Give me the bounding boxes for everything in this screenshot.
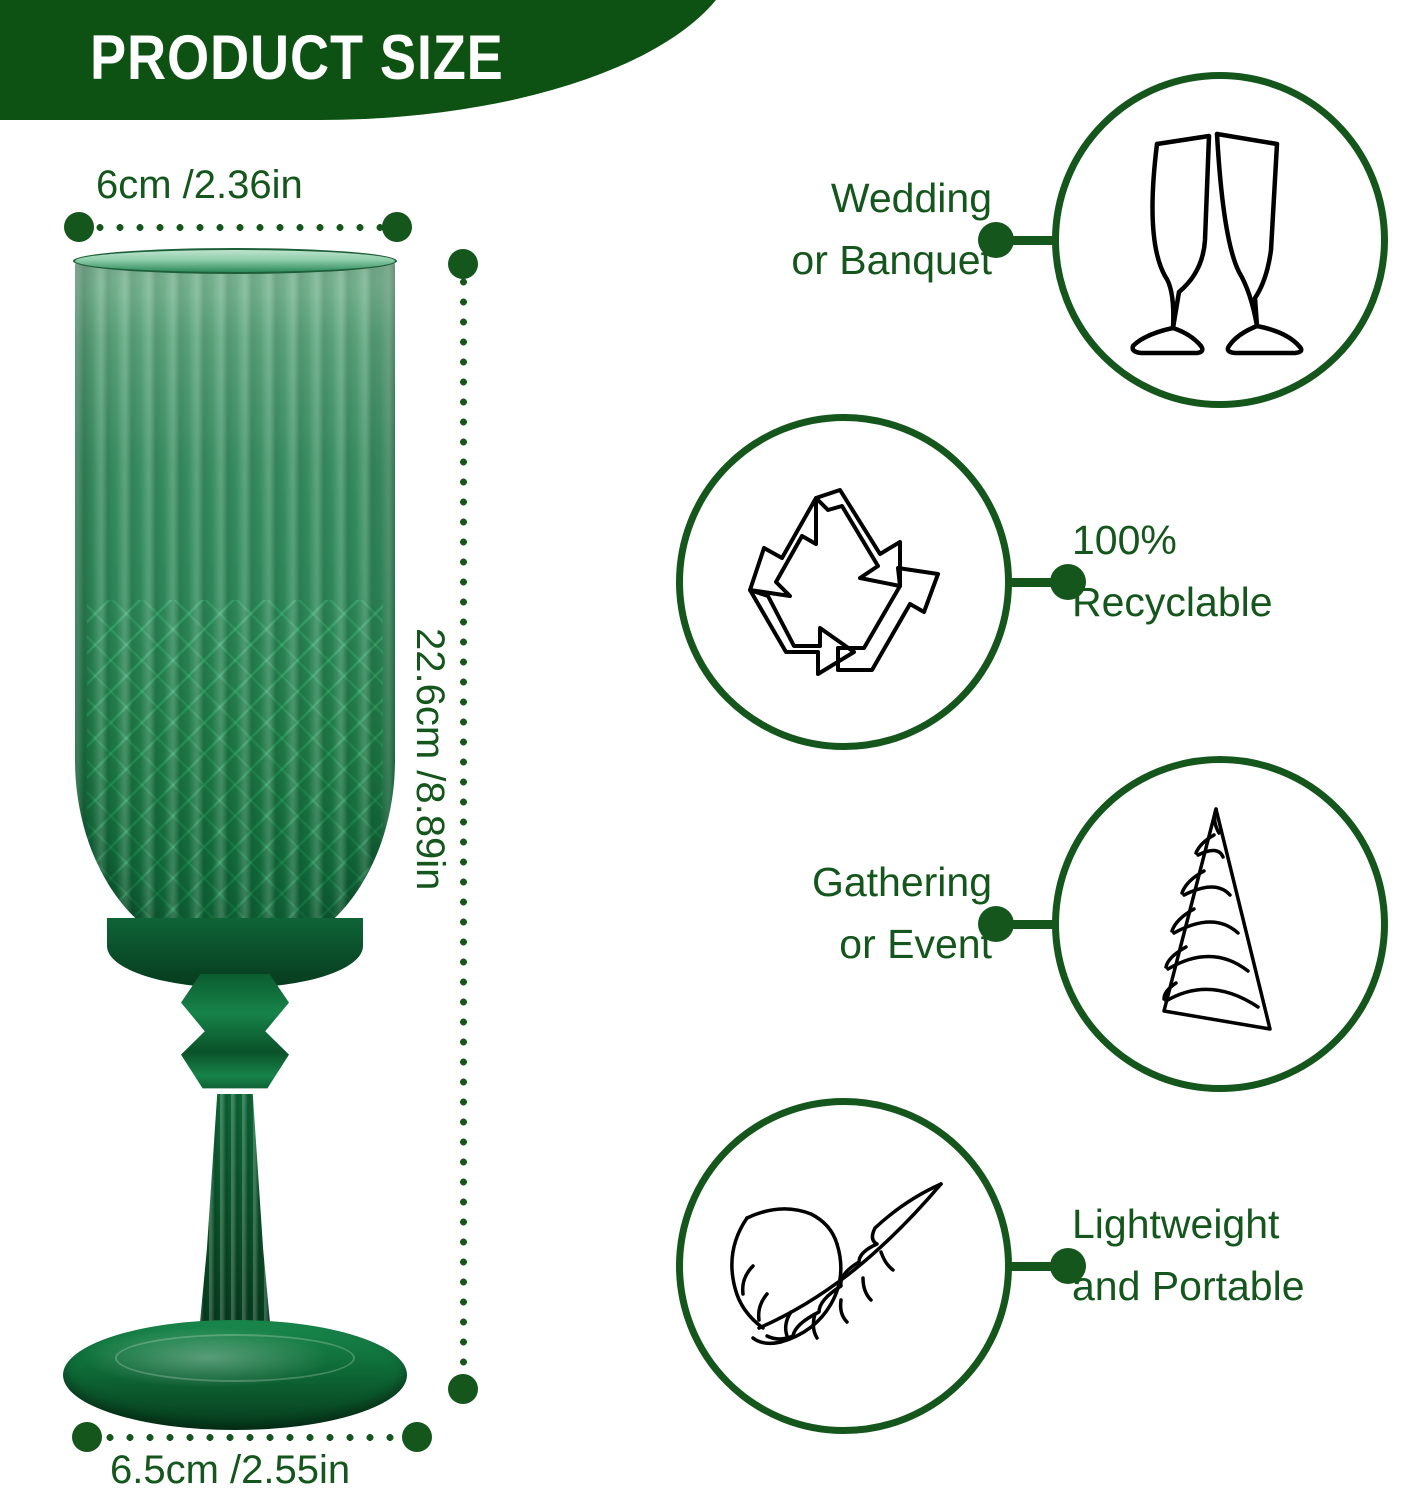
dimension-endpoint-dot	[64, 212, 94, 242]
connector-line	[1004, 920, 1056, 929]
dimension-endpoint-dot	[448, 249, 478, 279]
connector-line	[1008, 578, 1060, 587]
feature-icon-circle	[1052, 756, 1388, 1092]
feature-recyclable: 100% Recyclable	[672, 414, 1392, 754]
feature-label: Wedding or Banquet	[791, 168, 992, 291]
dimension-label-top-width: 6cm /2.36in	[96, 163, 303, 208]
feature-label-line2: or Event	[812, 914, 992, 976]
glass-diamond-cut-pattern	[87, 600, 383, 950]
connector-line	[1008, 1262, 1060, 1271]
feature-label-line1: Wedding	[791, 168, 992, 230]
dimension-endpoint-dot	[448, 1374, 478, 1404]
dimension-label-base-width: 6.5cm /2.55in	[110, 1448, 350, 1493]
dimension-line-base-width	[100, 1434, 410, 1441]
dimension-endpoint-dot	[382, 212, 412, 242]
dimension-endpoint-dot	[72, 1422, 102, 1452]
feature-label-line1: 100%	[1072, 510, 1273, 572]
feature-gathering-or-event: Gathering or Event	[672, 756, 1392, 1096]
party-hat-icon	[1120, 799, 1320, 1049]
product-size-infographic: PRODUCT SIZE 6cm /2.36in 22.6cm /8.89in …	[0, 0, 1403, 1500]
glass-stem	[198, 1094, 272, 1344]
feature-label: Lightweight and Portable	[1072, 1194, 1305, 1317]
feature-label-line2: or Banquet	[791, 230, 992, 292]
glass-foot-ring	[115, 1334, 355, 1382]
dimension-endpoint-dot	[402, 1422, 432, 1452]
feature-lightweight-and-portable: Lightweight and Portable	[672, 1098, 1392, 1438]
feature-label-line1: Lightweight	[1072, 1194, 1305, 1256]
feature-label-line2: and Portable	[1072, 1256, 1305, 1318]
feather-icon	[719, 1166, 969, 1366]
glass-stem-knop	[181, 974, 289, 1104]
product-image-champagne-flute	[55, 248, 415, 1423]
feature-icon-circle	[676, 1098, 1012, 1434]
feature-icon-circle	[676, 414, 1012, 750]
connector-line	[1004, 236, 1056, 245]
feature-label-line2: Recyclable	[1072, 572, 1273, 634]
recycle-icon	[724, 462, 964, 702]
dimension-label-height: 22.6cm /8.89in	[407, 628, 452, 890]
glass-rim	[73, 248, 397, 274]
toasting-champagne-glasses-icon	[1105, 120, 1335, 360]
feature-label: 100% Recyclable	[1072, 510, 1273, 633]
feature-wedding-or-banquet: Wedding or Banquet	[672, 72, 1392, 412]
feature-label-line1: Gathering	[812, 852, 992, 914]
page-title: PRODUCT SIZE	[90, 22, 504, 94]
feature-icon-circle	[1052, 72, 1388, 408]
dimension-line-top-width	[90, 224, 390, 231]
dimension-line-height	[460, 272, 467, 1382]
feature-label: Gathering or Event	[812, 852, 992, 975]
